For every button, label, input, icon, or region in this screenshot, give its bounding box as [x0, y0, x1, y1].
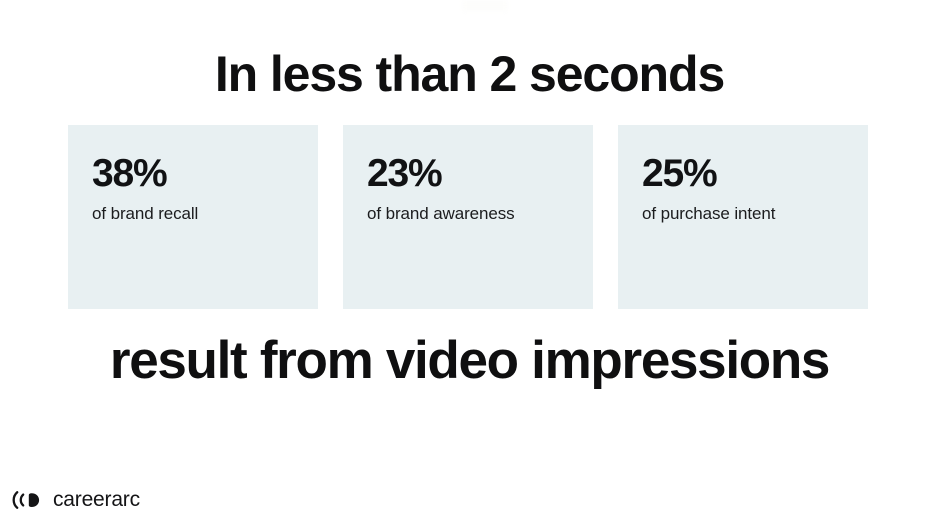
stat-label: of brand awareness [367, 203, 593, 225]
scan-artifact [462, 0, 508, 11]
stat-label: of purchase intent [642, 203, 868, 225]
careerarc-wordmark: careerarc [53, 488, 140, 512]
stat-card: 38% of brand recall [68, 125, 318, 309]
careerarc-signal-icon [10, 488, 44, 512]
headline-bottom: result from video impressions [0, 330, 939, 392]
stat-card: 23% of brand awareness [343, 125, 593, 309]
careerarc-logo: careerarc [10, 487, 140, 513]
stat-value: 23% [367, 153, 593, 195]
stat-card-group: 38% of brand recall 23% of brand awarene… [68, 125, 868, 309]
stat-card: 25% of purchase intent [618, 125, 868, 309]
stat-value: 38% [92, 153, 318, 195]
headline-top: In less than 2 seconds [0, 45, 939, 103]
slide-canvas: In less than 2 seconds 38% of brand reca… [0, 0, 939, 529]
stat-label: of brand recall [92, 203, 318, 225]
stat-value: 25% [642, 153, 868, 195]
